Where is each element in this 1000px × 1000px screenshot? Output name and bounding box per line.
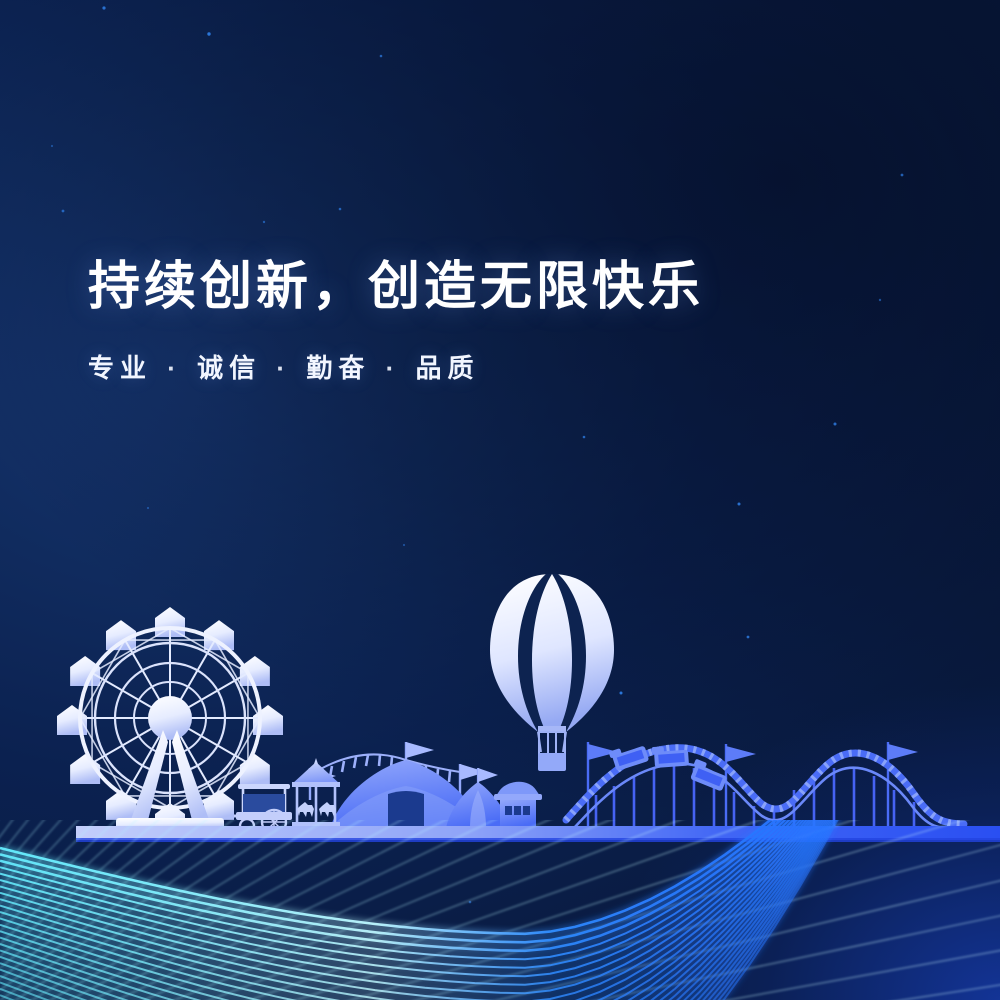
wave-radial xyxy=(0,0,1000,1000)
wave-radial xyxy=(0,0,726,1000)
headline-text: 持续创新，创造无限快乐 xyxy=(88,258,704,318)
text-block: 持续创新，创造无限快乐 专业 · 诚信 · 勤奋 · 品质 xyxy=(88,258,704,385)
wave-line xyxy=(0,488,1000,1000)
wave-line xyxy=(0,569,1000,933)
wave-line xyxy=(0,504,1000,1000)
wave-radial xyxy=(0,0,1000,1000)
subtitle-word-1: 专业 xyxy=(88,353,152,383)
wave-line xyxy=(0,496,1000,1000)
wave-radial xyxy=(0,80,1000,1000)
wave-line xyxy=(0,480,1000,1000)
wave-radial xyxy=(0,0,1000,1000)
wave-line xyxy=(0,537,1000,1000)
wave-radial xyxy=(0,695,1000,1000)
wave-line xyxy=(0,500,1000,1000)
subtitle-text: 专业 · 诚信 · 勤奋 · 品质 xyxy=(88,348,704,385)
wave-radial xyxy=(0,0,1000,1000)
subtitle-word-4: 品质 xyxy=(415,353,479,383)
wave-radial xyxy=(0,33,1000,1000)
wave-radial xyxy=(0,0,1000,1000)
wave-radial xyxy=(0,587,1000,1000)
poster-canvas: 持续创新，创造无限快乐 专业 · 诚信 · 勤奋 · 品质 xyxy=(0,0,1000,1000)
subtitle-word-3: 勤奋 xyxy=(306,353,370,383)
subtitle-separator-2: · xyxy=(274,353,293,383)
wave-line xyxy=(0,529,1000,1000)
wave-radial xyxy=(0,0,1000,1000)
wave-radial xyxy=(0,534,1000,1000)
wave-radial xyxy=(0,0,1000,1000)
wave-radial xyxy=(0,0,1000,1000)
wave-line xyxy=(0,533,1000,1000)
wave-radial xyxy=(0,0,1000,1000)
wave-radial xyxy=(0,749,1000,1000)
mesh-wave-graphic xyxy=(0,0,1000,1000)
wave-line xyxy=(0,541,1000,993)
wave-line xyxy=(0,508,1000,1000)
wave-line xyxy=(0,484,1000,1000)
wave-radial xyxy=(0,0,1000,1000)
subtitle-separator-3: · xyxy=(384,353,403,383)
wave-radial xyxy=(0,0,1000,1000)
wave-line xyxy=(0,545,1000,985)
wave-radial xyxy=(0,0,1000,1000)
subtitle-word-2: 诚信 xyxy=(197,353,261,383)
wave-radial xyxy=(0,481,1000,1000)
subtitle-separator-1: · xyxy=(165,353,184,383)
wave-radial xyxy=(0,0,1000,1000)
wave-line xyxy=(0,492,1000,1000)
